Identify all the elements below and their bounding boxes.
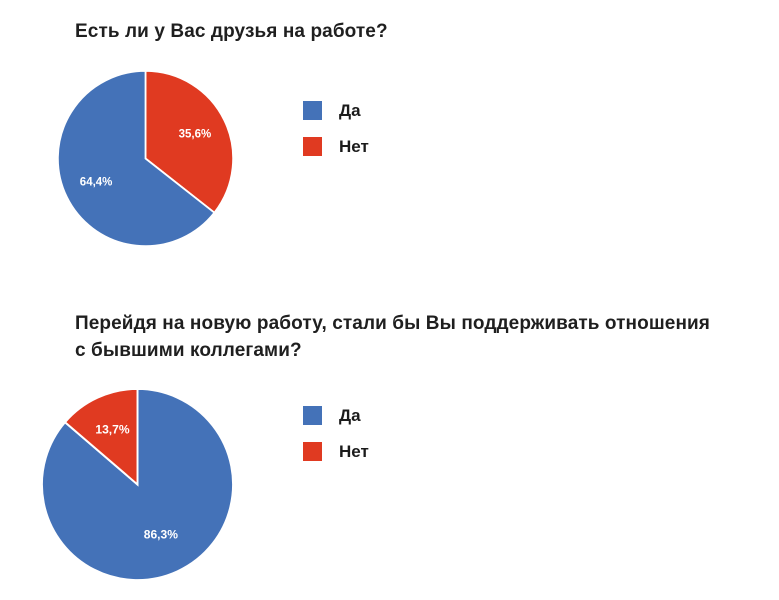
legend-item-net[interactable]: Нет: [303, 136, 369, 156]
red-swatch-icon: [303, 137, 322, 156]
pie-slice-label-net: 13,7%: [95, 422, 129, 436]
legend-item-label: Да: [339, 101, 361, 120]
legend-item-da[interactable]: Да: [303, 100, 369, 120]
pie-slice-label-da: 64,4%: [80, 177, 113, 189]
pie-svg: 35,6% 64,4%: [57, 70, 234, 247]
page-title: Есть ли у Вас друзья на работе?: [75, 18, 695, 45]
legend-keep-relations: Да Нет: [303, 405, 369, 461]
pie-chart-keep-relations: 86,3% 13,7%: [41, 388, 234, 581]
legend-item-label: Нет: [339, 137, 369, 156]
pie-slices: [42, 389, 233, 580]
legend-item-label: Нет: [339, 442, 369, 461]
legend-item-da[interactable]: Да: [303, 405, 369, 425]
blue-swatch-icon: [303, 406, 322, 425]
page-title: Перейдя на новую работу, стали бы Вы под…: [75, 310, 715, 364]
red-swatch-icon: [303, 442, 322, 461]
pie-chart-friends-at-work: 35,6% 64,4%: [57, 70, 234, 247]
pie-slices: [58, 71, 233, 246]
pie-svg: 86,3% 13,7%: [41, 388, 234, 581]
pie-slice-label-da: 86,3%: [144, 528, 178, 542]
legend-item-net[interactable]: Нет: [303, 441, 369, 461]
legend-friends-at-work: Да Нет: [303, 100, 369, 156]
blue-swatch-icon: [303, 101, 322, 120]
legend-item-label: Да: [339, 406, 361, 425]
pie-slice-label-net: 35,6%: [179, 129, 212, 141]
